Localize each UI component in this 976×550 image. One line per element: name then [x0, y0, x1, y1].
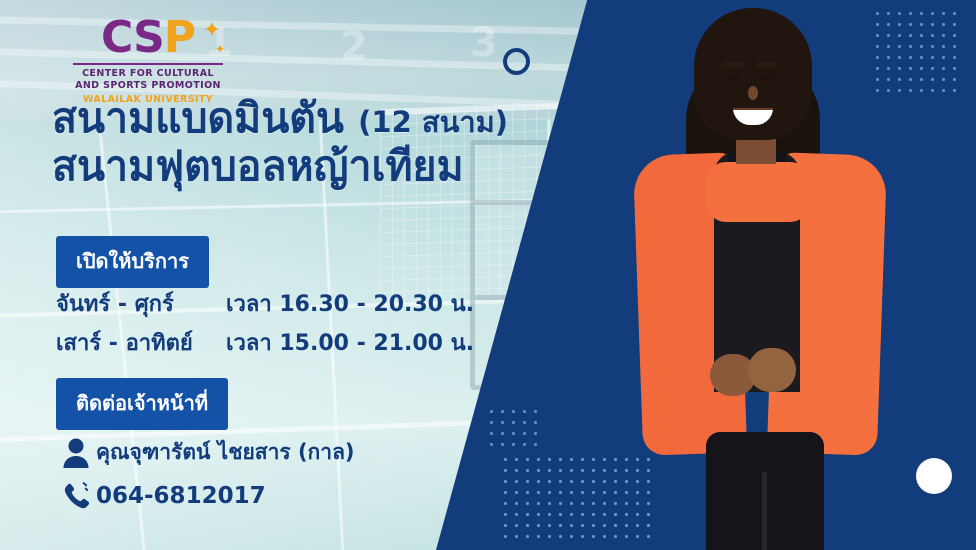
- contact-person-row: คุณจุฑารัตน์ ไชยสาร (กาล): [56, 436, 355, 469]
- sparkle-icon: ✦: [203, 18, 221, 43]
- dot-grid-mid: [486, 406, 542, 446]
- headline-main-text: สนามแบดมินตัน: [52, 94, 344, 142]
- portrait-hand-right: [748, 348, 796, 392]
- staff-portrait-photo: [602, 2, 902, 550]
- headline-line-1: สนามแบดมินตัน (12 สนาม): [52, 96, 692, 142]
- person-icon: [56, 437, 96, 469]
- hours-days: เสาร์ - อาทิตย์: [56, 325, 226, 360]
- portrait-eye: [726, 74, 740, 81]
- logo-acronym: CSP: [101, 16, 195, 60]
- portrait-nose: [748, 86, 758, 100]
- badge-contact-staff: ติดต่อเจ้าหน้าที่: [56, 378, 228, 430]
- csp-logo: CSP ✦ ✦ CENTER FOR CULTURAL AND SPORTS P…: [58, 16, 238, 105]
- sparkle-icon: ✦: [215, 42, 225, 56]
- hours-time: เวลา 15.00 - 21.00 น.: [226, 325, 474, 360]
- headline-line-2: สนามฟุตบอลหญ้าเทียม: [52, 144, 692, 190]
- hours-row: จันทร์ - ศุกร์ เวลา 16.30 - 20.30 น.: [56, 286, 474, 321]
- circle-filled-icon: [916, 458, 952, 494]
- phone-ringing-icon: [56, 481, 96, 511]
- logo-line-1: CENTER FOR CULTURAL: [58, 68, 238, 80]
- portrait-jacket-shoulders: [706, 162, 810, 222]
- portrait-trouser-seam: [762, 472, 767, 550]
- contact-person-name: คุณจุฑารัตน์ ไชยสาร (กาล): [96, 436, 355, 469]
- opening-hours-list: จันทร์ - ศุกร์ เวลา 16.30 - 20.30 น. เสา…: [56, 286, 474, 364]
- contact-phone-number: 064-6812017: [96, 483, 266, 509]
- hours-row: เสาร์ - อาทิตย์ เวลา 15.00 - 21.00 น.: [56, 325, 474, 360]
- logo-line-2: AND SPORTS PROMOTION: [58, 80, 238, 92]
- poster-canvas: 1 2 3 CSP ✦ ✦ CENTER FOR CULTURAL AND SP…: [0, 0, 976, 550]
- hours-time: เวลา 16.30 - 20.30 น.: [226, 286, 474, 321]
- portrait-eyebrow: [756, 62, 778, 67]
- contact-block: คุณจุฑารัตน์ ไชยสาร (กาล) 064-6812017: [56, 436, 355, 523]
- headline-sub-text: (12 สนาม): [358, 105, 508, 139]
- headline-block: สนามแบดมินตัน (12 สนาม) สนามฟุตบอลหญ้าเท…: [52, 96, 692, 190]
- logo-divider: [73, 63, 223, 65]
- circle-outline-icon: [503, 48, 530, 75]
- badge-open-service: เปิดให้บริการ: [56, 236, 209, 288]
- contact-phone-row: 064-6812017: [56, 481, 355, 511]
- hours-days: จันทร์ - ศุกร์: [56, 286, 226, 321]
- portrait-eye: [760, 74, 774, 81]
- portrait-eyebrow: [722, 62, 744, 67]
